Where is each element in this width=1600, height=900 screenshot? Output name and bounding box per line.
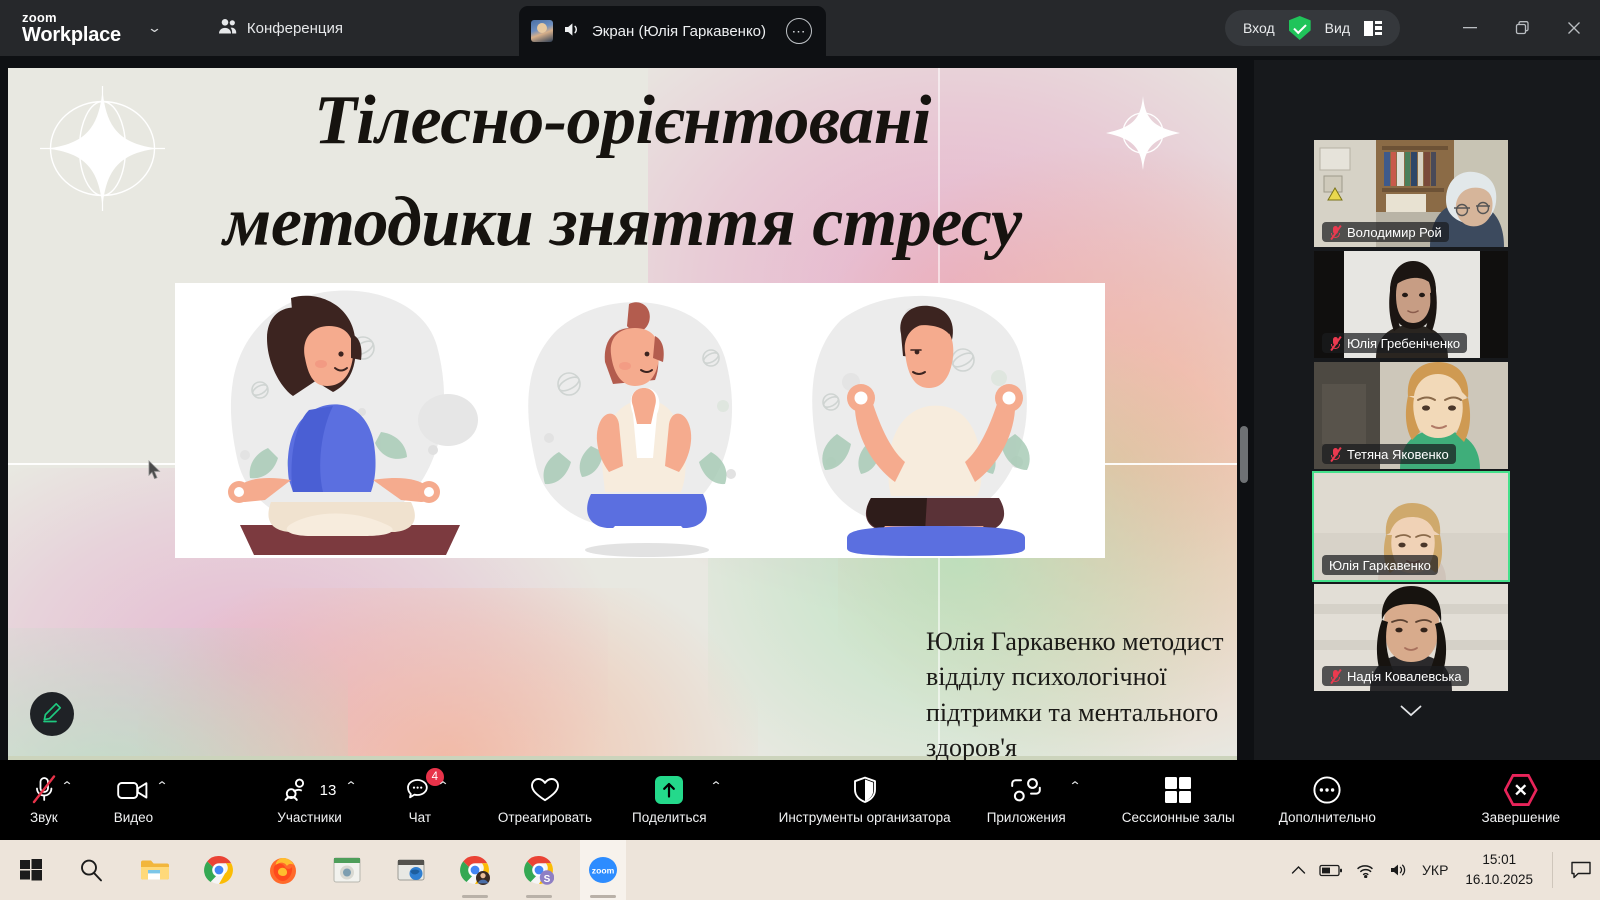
view-layout-icon[interactable]: [1364, 21, 1382, 36]
wifi-icon[interactable]: [1356, 862, 1376, 878]
apps-button[interactable]: Приложения: [987, 769, 1066, 831]
slide-speaker-note: Юлія Гаркавенко методист відділу психоло…: [926, 624, 1236, 760]
presentation-slide: Тілесно-орієнтовані методики зняття стре…: [8, 68, 1237, 760]
participant-name-bar: Тетяна Яковенко: [1322, 444, 1456, 464]
more-icon: [1312, 775, 1342, 805]
audio-options-caret[interactable]: ⌃: [60, 779, 73, 793]
chat-icon: 4: [406, 775, 434, 805]
chevron-down-icon[interactable]: [1379, 696, 1443, 726]
title-bar: zoom Workplace ⌄ Конференция Э: [0, 0, 1600, 56]
share-options-caret[interactable]: ⌃: [709, 779, 722, 793]
audio-button[interactable]: Звук: [30, 769, 58, 831]
windows-start-icon[interactable]: [8, 840, 54, 900]
clock-time: 15:01: [1482, 850, 1516, 870]
titlebar-right-group: Вход Вид: [1225, 10, 1400, 46]
participant-name: Тетяна Яковенко: [1347, 447, 1449, 462]
zoom-logo-top: zoom: [22, 11, 121, 24]
chat-label: Чат: [409, 810, 431, 825]
scrollbar-thumb[interactable]: [1240, 426, 1248, 483]
mic-muted-icon: [31, 775, 57, 805]
slide-title-line-2: методики зняття стресу: [8, 172, 1237, 274]
participant-name-bar: Юлія Гребеніченко: [1322, 333, 1467, 353]
apps-label: Приложения: [987, 810, 1066, 825]
svg-text:S: S: [544, 874, 551, 885]
tab-screen-share-label: Экран (Юлія Гаркавенко): [592, 23, 766, 40]
share-screen-icon: [655, 775, 683, 805]
chrome-icon[interactable]: [196, 840, 242, 900]
meeting-toolbar: Звук ⌃ Видео ⌃: [0, 760, 1600, 840]
reactions-button[interactable]: Отреагировать: [498, 769, 592, 831]
end-call-icon: ✕: [1504, 775, 1538, 805]
participant-tile[interactable]: Юлія Гребеніченко: [1314, 251, 1508, 358]
shared-content-scrollbar[interactable]: [1239, 68, 1249, 760]
zoom-icon[interactable]: zoom: [580, 840, 626, 900]
search-icon[interactable]: [68, 840, 114, 900]
video-options-caret[interactable]: ⌃: [156, 779, 169, 793]
host-tools-label: Инструменты организатора: [779, 810, 951, 825]
svg-text:zoom: zoom: [592, 866, 615, 876]
view-button[interactable]: Вид: [1325, 20, 1350, 36]
breakout-rooms-label: Сессионные залы: [1122, 810, 1235, 825]
end-meeting-label: Завершение: [1481, 810, 1560, 825]
media-player-icon[interactable]: [324, 840, 370, 900]
participant-tile-active[interactable]: Юлія Гаркавенко: [1314, 473, 1508, 580]
tab-conference[interactable]: Конференция: [218, 18, 343, 39]
volume-icon[interactable]: [1389, 862, 1409, 878]
participant-name: Надія Ковалевська: [1347, 669, 1462, 684]
host-tools-button[interactable]: Инструменты организатора: [779, 769, 951, 831]
meditation-illustration: [505, 288, 795, 558]
participants-icon: [218, 18, 238, 39]
notification-icon[interactable]: [1570, 860, 1592, 880]
clock[interactable]: 15:01 16.10.2025: [1465, 850, 1533, 889]
mouse-cursor: [148, 460, 161, 484]
participants-label: Участники: [277, 810, 342, 825]
firefox-icon[interactable]: [260, 840, 306, 900]
mic-muted-icon: [1329, 669, 1342, 684]
restore-icon[interactable]: [1496, 0, 1548, 56]
participant-tile[interactable]: Надія Ковалевська: [1314, 584, 1508, 691]
tab-screen-share[interactable]: Экран (Юлія Гаркавенко) ⋯: [519, 6, 826, 56]
apps-options-caret[interactable]: ⌃: [1068, 779, 1081, 793]
share-screen-label: Поделиться: [632, 810, 707, 825]
grid-icon: [1163, 775, 1193, 805]
zoom-logo-bottom: Workplace: [22, 25, 121, 45]
end-meeting-button[interactable]: ✕ Завершение: [1481, 769, 1560, 831]
participants-count: 13: [320, 782, 337, 799]
annotate-button[interactable]: [30, 692, 74, 736]
participant-name-bar: Юлія Гаркавенко: [1322, 555, 1438, 575]
more-label: Дополнительно: [1279, 810, 1376, 825]
tab-more-options-icon[interactable]: ⋯: [786, 18, 812, 44]
system-tray: УКР 15:01 16.10.2025: [1291, 840, 1600, 900]
window-controls: [1444, 0, 1600, 56]
slide-title-line-1: Тілесно-орієнтовані: [8, 70, 1237, 172]
participant-name-bar: Володимир Рой: [1322, 222, 1449, 242]
participant-tile[interactable]: Тетяна Яковенко: [1314, 362, 1508, 469]
chevron-up-icon[interactable]: [1291, 865, 1306, 875]
mic-muted-icon: [1329, 447, 1342, 462]
breakout-rooms-button[interactable]: Сессионные залы: [1122, 769, 1235, 831]
mic-muted-icon: [1329, 336, 1342, 351]
pencil-icon: [41, 701, 63, 728]
video-button[interactable]: Видео: [114, 769, 153, 831]
video-label: Видео: [114, 810, 153, 825]
chrome-profile-s-icon[interactable]: S: [516, 840, 562, 900]
share-screen-button[interactable]: Поделиться: [632, 769, 707, 831]
chat-button[interactable]: 4 Чат: [406, 769, 434, 831]
participant-video-strip: Володимир Рой Юлія Гребен: [1254, 60, 1600, 760]
slide-title: Тілесно-орієнтовані методики зняття стре…: [8, 70, 1237, 274]
apps-icon: [1010, 775, 1042, 805]
sign-in-button[interactable]: Вход: [1243, 20, 1275, 36]
close-icon[interactable]: [1548, 0, 1600, 56]
participants-options-caret[interactable]: ⌃: [345, 779, 358, 793]
taskbar-open-indicator: [526, 895, 552, 898]
meditation-illustration: [785, 286, 1085, 558]
participant-name-bar: Надія Ковалевська: [1322, 666, 1469, 686]
participant-tile[interactable]: Володимир Рой: [1314, 140, 1508, 247]
language-indicator[interactable]: УКР: [1422, 862, 1448, 878]
reactions-label: Отреагировать: [498, 810, 592, 825]
speaker-icon: [563, 21, 582, 42]
participants-button[interactable]: 13 Участники: [277, 769, 342, 831]
taskbar-open-indicator: [590, 895, 616, 898]
heart-icon: [530, 775, 560, 805]
clock-date: 16.10.2025: [1465, 870, 1533, 890]
slide-illustration-card: [175, 283, 1105, 558]
mic-muted-icon: [1329, 225, 1342, 240]
participants-icon: 13: [283, 775, 337, 805]
file-explorer-icon[interactable]: [132, 840, 178, 900]
audio-label: Звук: [30, 810, 58, 825]
shield-check-icon[interactable]: [1289, 16, 1311, 40]
zoom-logo: zoom Workplace: [22, 11, 121, 45]
taskbar-open-indicator: [462, 895, 488, 898]
camera-icon: [117, 775, 149, 805]
zoom-app-window: zoom Workplace ⌄ Конференция Э: [0, 0, 1600, 900]
tab-conference-label: Конференция: [247, 20, 343, 37]
more-button[interactable]: Дополнительно: [1279, 769, 1376, 831]
participant-name: Юлія Гаркавенко: [1329, 558, 1431, 573]
shield-icon: [852, 775, 878, 805]
shared-screen-content[interactable]: Тілесно-орієнтовані методики зняття стре…: [8, 68, 1237, 760]
chevron-down-icon[interactable]: ⌄: [147, 20, 162, 36]
participant-name: Юлія Гребеніченко: [1347, 336, 1460, 351]
chat-options-caret[interactable]: ⌃: [437, 779, 450, 793]
minimize-icon[interactable]: [1444, 0, 1496, 56]
participant-name: Володимир Рой: [1347, 225, 1442, 240]
meditation-illustration: [205, 280, 515, 558]
chrome-profile-icon[interactable]: [452, 840, 498, 900]
battery-icon[interactable]: [1319, 864, 1343, 877]
store-icon[interactable]: [388, 840, 434, 900]
avatar: [531, 20, 553, 42]
windows-taskbar: S zoom: [0, 840, 1600, 900]
tray-divider: [1552, 852, 1553, 888]
